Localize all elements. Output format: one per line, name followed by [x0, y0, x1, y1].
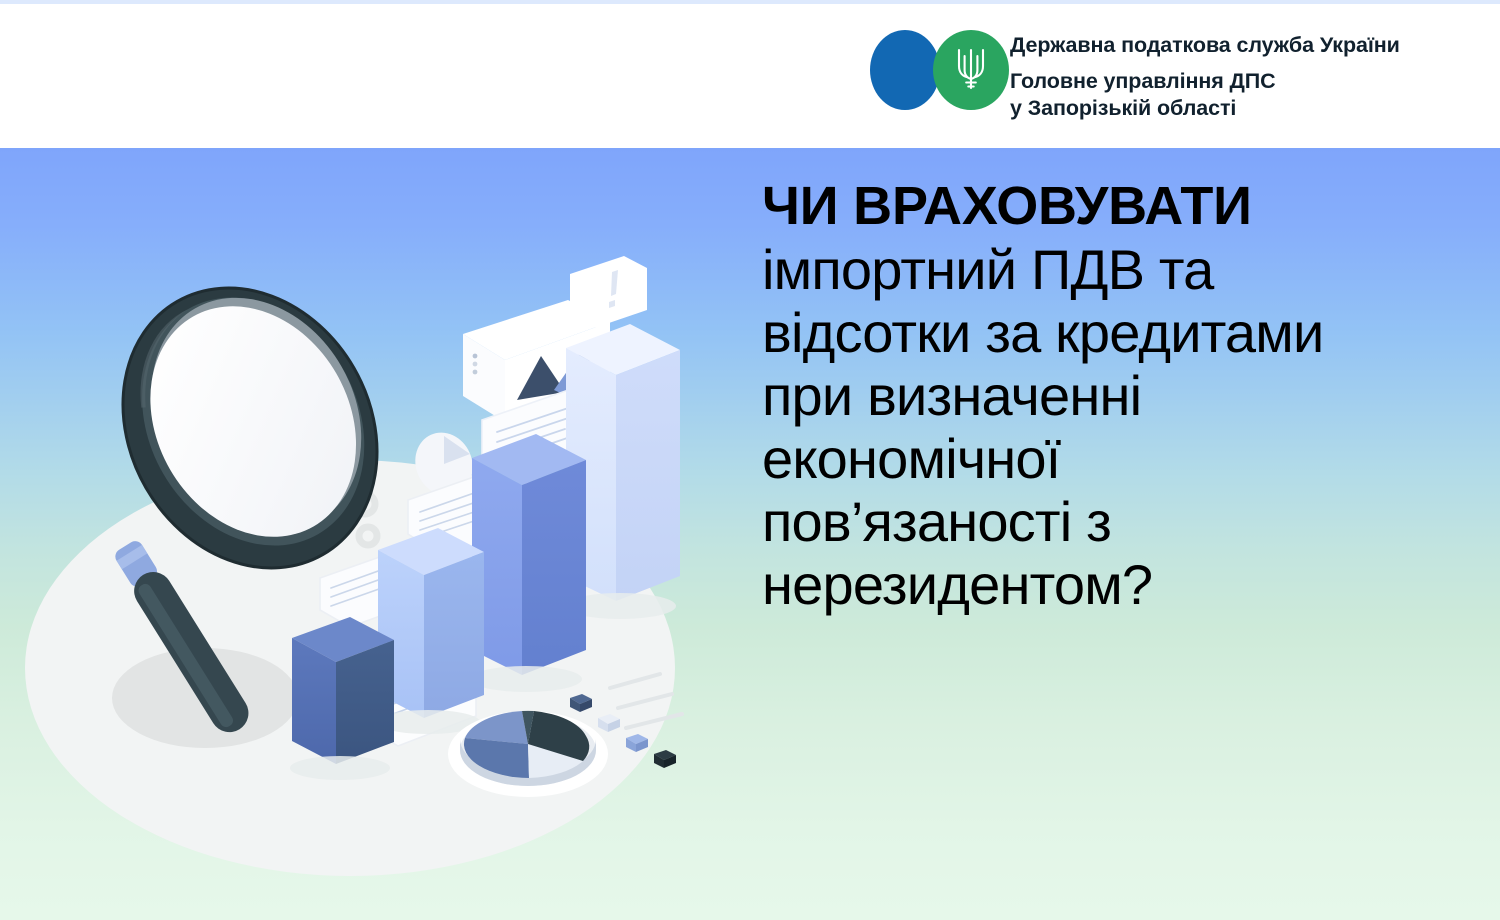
headline-line-1: ЧИ ВРАХОВУВАТИ	[762, 175, 1492, 238]
headline-line-5: економічної	[762, 427, 1492, 490]
poster-page: Державна податкова служба України Головн…	[0, 0, 1500, 920]
logo-blue-circle-icon	[870, 30, 940, 110]
bar-3d-third	[470, 434, 586, 692]
headline-line-6: пов’язаності з	[762, 490, 1492, 553]
logo-mark	[868, 30, 1010, 110]
ukrainian-trident-icon	[954, 46, 988, 92]
headline-line-3: відсотки за кредитами	[762, 301, 1492, 364]
headline-line-4: при визначенні	[762, 364, 1492, 427]
header-bar: Державна податкова служба України Головн…	[0, 4, 1500, 148]
org-name-line-1: Державна податкова служба України	[1010, 32, 1400, 59]
data-analysis-illustration	[20, 238, 740, 898]
brand-block: Державна податкова служба України Головн…	[868, 30, 1400, 122]
headline-line-7: нерезидентом?	[762, 553, 1492, 616]
illustration-svg	[20, 238, 740, 898]
headline-line-2: імпортний ПДВ та	[762, 238, 1492, 301]
org-name-line-3: у Запорізькій області	[1010, 95, 1400, 122]
page-title: ЧИ ВРАХОВУВАТИ імпортний ПДВ та відсотки…	[762, 175, 1492, 616]
pie-chart-3d	[448, 711, 608, 797]
org-name-line-2: Головне управління ДПС	[1010, 68, 1400, 95]
brand-text-block: Державна податкова служба України Головн…	[1010, 30, 1400, 122]
